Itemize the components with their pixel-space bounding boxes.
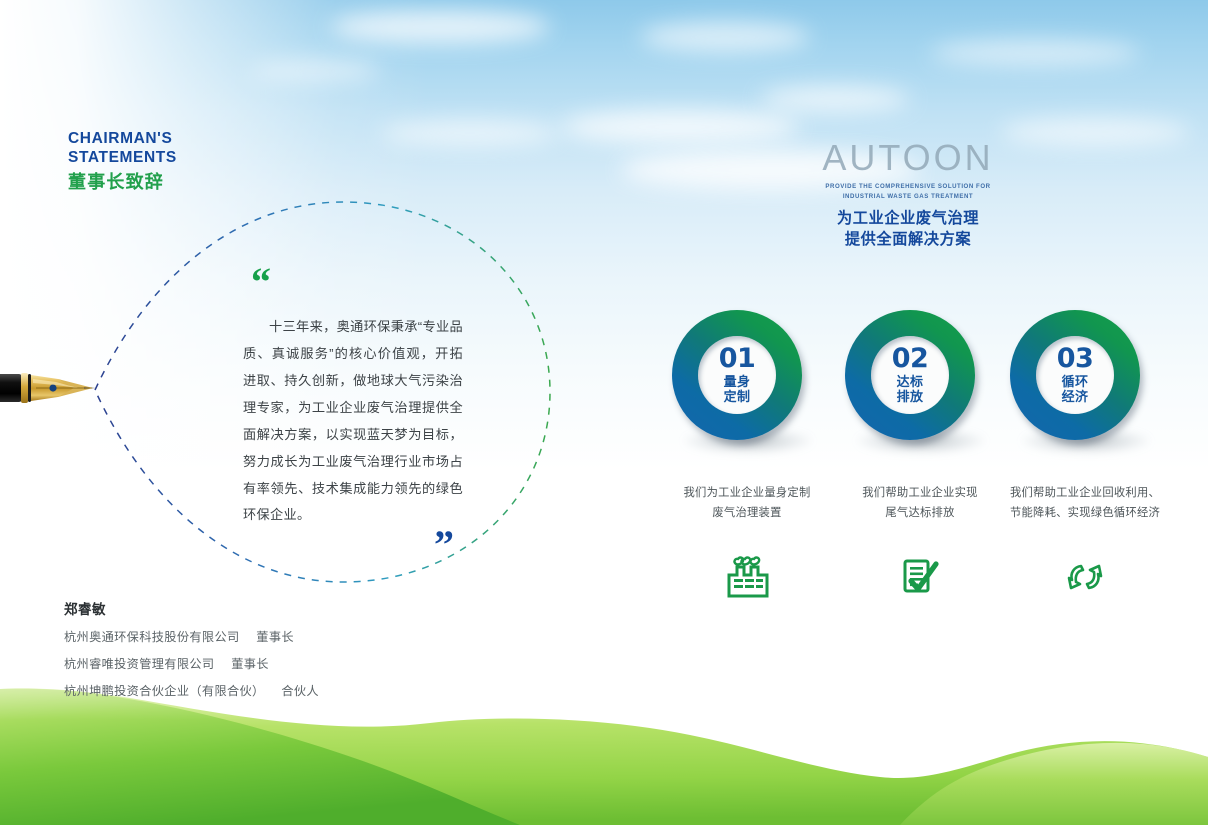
cloud <box>930 40 1140 66</box>
badge-ring-wrap-01: 01 量身 定制 <box>672 310 822 460</box>
quote-text: 十三年来，奥通环保秉承“专业品质、真诚服务”的核心价值观，开拓进取、持久创新，做… <box>243 314 463 529</box>
signature-company: 杭州奥通环保科技股份有限公司 <box>64 630 240 644</box>
badge-number: 02 <box>892 346 929 372</box>
logo-tagline-line1: PROVIDE THE COMPREHENSIVE SOLUTION FOR <box>818 182 998 192</box>
badge-caption-line1: 我们帮助工业企业回收利用、 <box>1000 484 1170 504</box>
signature-line: 杭州奥通环保科技股份有限公司 董事长 <box>64 627 319 645</box>
logo-wordmark: AUTOON <box>818 140 998 176</box>
badge-number: 03 <box>1057 346 1094 372</box>
badge-title-line1: 达标 <box>897 374 924 389</box>
signature-block: 郑睿敏 杭州奥通环保科技股份有限公司 董事长 杭州睿唯投资管理有限公司 董事长 … <box>64 598 319 708</box>
checklist-icon <box>835 552 1005 602</box>
badge-caption-01: 我们为工业企业量身定制 废气治理装置 <box>662 484 832 524</box>
badge-title: 量身 定制 <box>724 374 751 404</box>
badge-title-line2: 排放 <box>897 389 924 404</box>
badge-ring-wrap-03: 03 循环 经济 <box>1010 310 1160 460</box>
badge-inner-02: 02 达标 排放 <box>871 336 949 414</box>
service-badges: 01 量身 定制 我们为工业企业量身定制 废气治理装置 <box>650 310 1190 545</box>
badge-caption-line2: 节能降耗、实现绿色循环经济 <box>1000 504 1170 524</box>
badge-title: 循环 经济 <box>1062 374 1089 404</box>
signature-line: 杭州坤鹏投资合伙企业（有限合伙） 合伙人 <box>64 681 319 699</box>
autoon-logo-block: AUTOON PROVIDE THE COMPREHENSIVE SOLUTIO… <box>818 140 998 251</box>
fountain-pen-icon <box>0 357 106 419</box>
logo-chinese-headline: 为工业企业废气治理 提供全面解决方案 <box>818 208 998 251</box>
signature-role: 董事长 <box>231 657 269 671</box>
badge-caption-line2: 尾气达标排放 <box>835 504 1005 524</box>
badge-inner-03: 03 循环 经济 <box>1036 336 1114 414</box>
quote-close-mark: ” <box>243 535 453 555</box>
badge-inner-01: 01 量身 定制 <box>698 336 776 414</box>
cloud <box>760 86 910 112</box>
signature-line: 杭州睿唯投资管理有限公司 董事长 <box>64 654 319 672</box>
logo-tagline: PROVIDE THE COMPREHENSIVE SOLUTION FOR I… <box>818 182 998 202</box>
heading-cn: 董事长致辞 <box>68 172 177 194</box>
signature-company: 杭州睿唯投资管理有限公司 <box>64 657 214 671</box>
recycle-icon <box>1000 552 1170 602</box>
badge-number: 01 <box>719 346 756 372</box>
chairman-quote-block: “ 十三年来，奥通环保秉承“专业品质、真诚服务”的核心价值观，开拓进取、持久创新… <box>243 272 463 555</box>
badge-caption-02: 我们帮助工业企业实现 尾气达标排放 <box>835 484 1005 524</box>
badge-title-line1: 量身 <box>724 374 751 389</box>
badge-caption-line1: 我们为工业企业量身定制 <box>662 484 832 504</box>
badge-title-line1: 循环 <box>1062 374 1089 389</box>
heading-en-line2: STATEMENTS <box>68 149 177 168</box>
badge-caption-line1: 我们帮助工业企业实现 <box>835 484 1005 504</box>
badge-caption-line2: 废气治理装置 <box>662 504 832 524</box>
logo-cn-line2: 提供全面解决方案 <box>818 229 998 251</box>
quote-open-mark: “ <box>251 272 463 292</box>
badge-title: 达标 排放 <box>897 374 924 404</box>
heading-en-line1: CHAIRMAN'S <box>68 130 177 149</box>
logo-cn-line1: 为工业企业废气治理 <box>818 208 998 230</box>
cloud <box>640 22 810 52</box>
signature-role: 董事长 <box>256 630 294 644</box>
factory-icon <box>662 552 832 602</box>
badge-title-line2: 定制 <box>724 389 751 404</box>
cloud <box>560 110 800 144</box>
badge-card-03: 03 循环 经济 我们帮助工业企业回收利用、 节能降耗、实现绿色循环经济 <box>1000 310 1170 602</box>
badge-ring-wrap-02: 02 达标 排放 <box>845 310 995 460</box>
brochure-page: CHAIRMAN'S STATEMENTS 董事长致辞 <box>0 0 1208 825</box>
logo-tagline-line2: INDUSTRIAL WASTE GAS TREATMENT <box>818 192 998 202</box>
badge-caption-03: 我们帮助工业企业回收利用、 节能降耗、实现绿色循环经济 <box>1000 484 1170 524</box>
signature-company: 杭州坤鹏投资合伙企业（有限合伙） <box>64 684 265 698</box>
badge-card-01: 01 量身 定制 我们为工业企业量身定制 废气治理装置 <box>662 310 832 602</box>
badge-card-02: 02 达标 排放 我们帮助工业企业实现 尾气达标排放 <box>835 310 1005 602</box>
signature-name: 郑睿敏 <box>64 598 319 618</box>
badge-title-line2: 经济 <box>1062 389 1089 404</box>
signature-role: 合伙人 <box>281 684 319 698</box>
chairman-heading: CHAIRMAN'S STATEMENTS 董事长致辞 <box>68 130 177 194</box>
cloud <box>1000 118 1190 146</box>
